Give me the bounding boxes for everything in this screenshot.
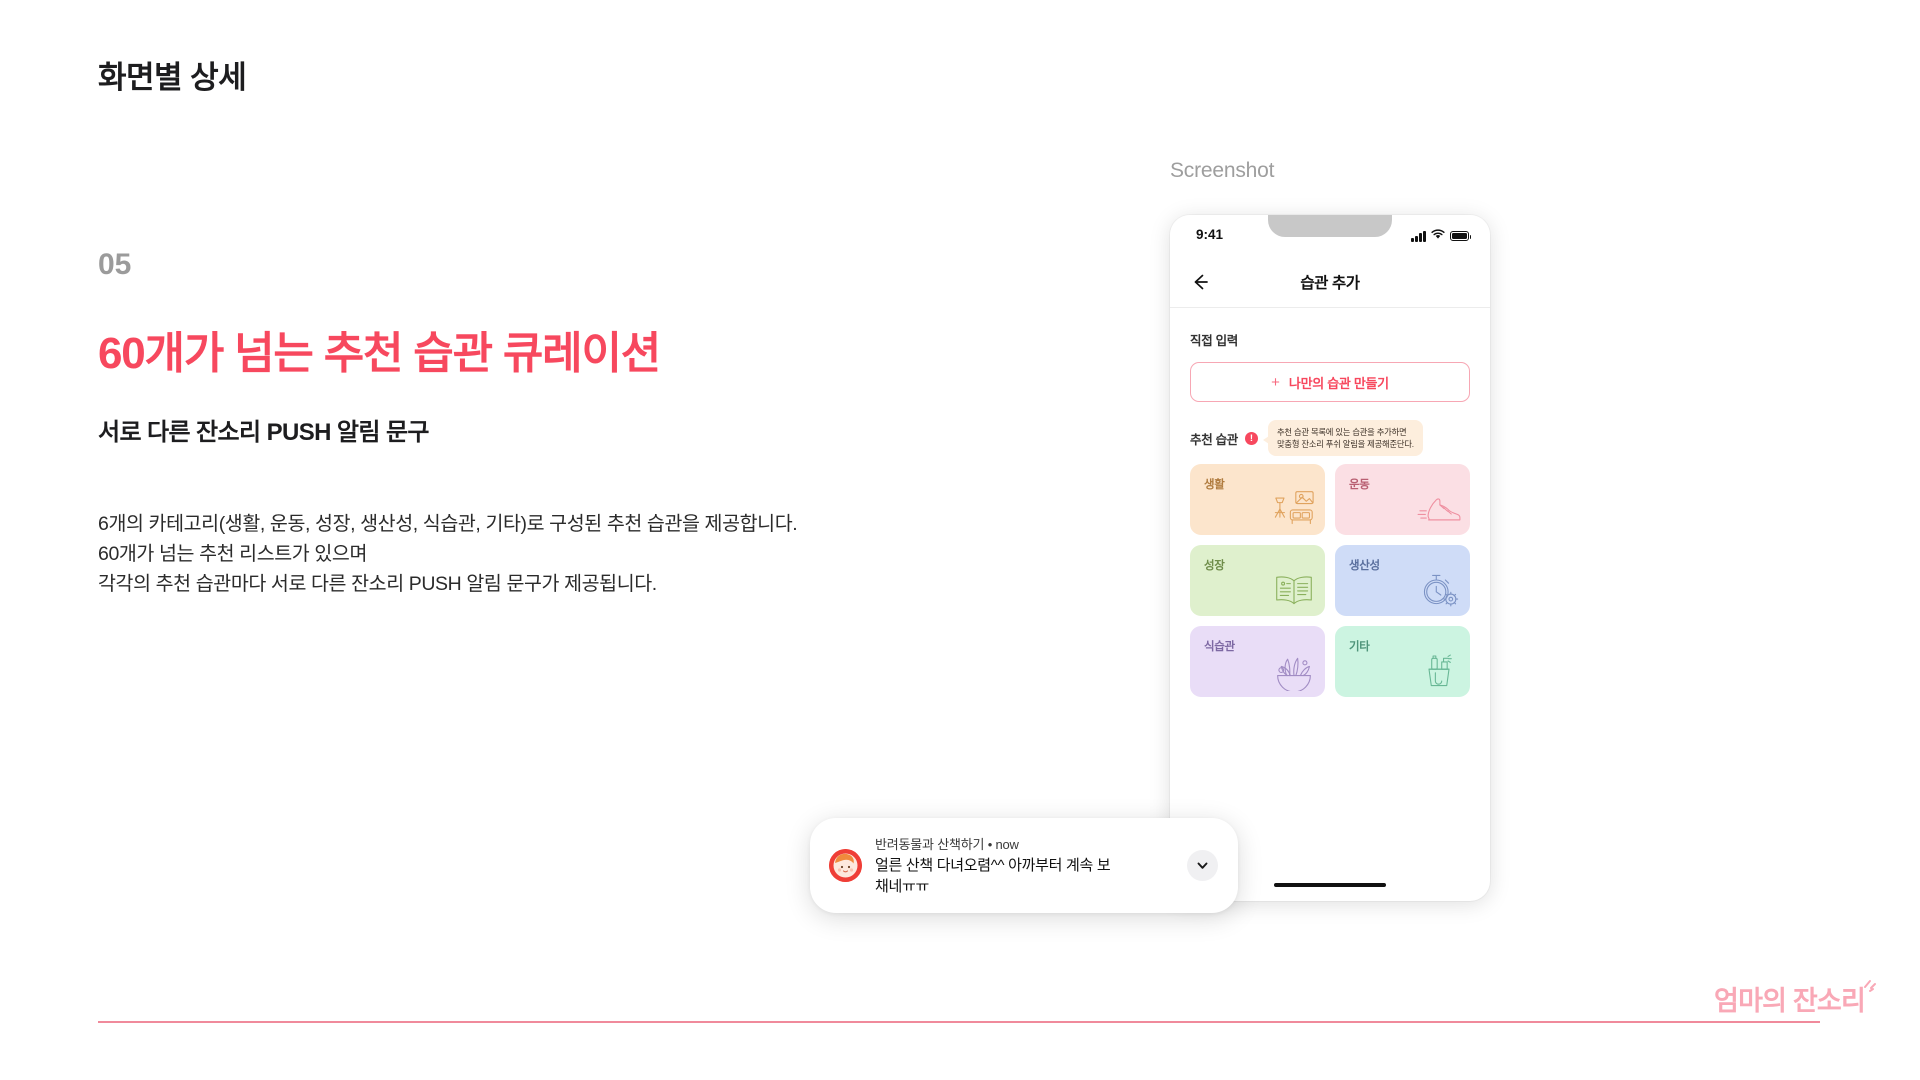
push-notification[interactable]: 반려동물과 산책하기 • now 얼른 산책 다녀오렴^^ 아까부터 계속 보채…	[810, 818, 1238, 913]
brand-logo: 엄마의 잔소리	[1714, 979, 1865, 1018]
screenshot-label: Screenshot	[1170, 159, 1274, 183]
sofa-lamp-icon	[1272, 489, 1316, 529]
direct-input-label: 직접 입력	[1190, 330, 1470, 349]
push-message: 얼른 산책 다녀오렴^^ 아까부터 계속 보채네ㅠㅠ	[875, 856, 1120, 897]
category-card-exercise[interactable]: 운동	[1335, 464, 1470, 535]
recommended-header: 추천 습관 ! 추천 습관 목록에 있는 습관을 추가하면 맞춤형 잔소리 푸쉬…	[1190, 429, 1470, 448]
category-card-living[interactable]: 생활	[1190, 464, 1325, 535]
page-title: 화면별 상세	[98, 52, 246, 97]
push-app-name: 반려동물과 산책하기	[875, 837, 984, 852]
tooltip-line-1: 추천 습관 목록에 있는 습관을 추가하면	[1277, 427, 1406, 437]
plus-icon: +	[1271, 375, 1280, 390]
back-arrow-icon[interactable]	[1189, 271, 1211, 293]
brand-label: 엄마의 잔소리	[1714, 986, 1865, 1016]
body-line-3: 각각의 추천 습관마다 서로 다른 잔소리 PUSH 알림 문구가 제공됩니다.	[98, 569, 998, 599]
category-label: 운동	[1349, 476, 1370, 492]
push-text: 반려동물과 산책하기 • now 얼른 산책 다녀오렴^^ 아까부터 계속 보채…	[875, 834, 1174, 897]
tooltip-line-2: 맞춤형 잔소리 푸쉬 알림을 제공해준단다.	[1277, 439, 1414, 449]
push-meta: 반려동물과 산책하기 • now	[875, 834, 1174, 853]
category-grid: 생활	[1190, 464, 1470, 697]
category-card-etc[interactable]: 기타	[1335, 626, 1470, 697]
create-own-habit-button[interactable]: + 나만의 습관 만들기	[1190, 362, 1470, 402]
body-line-2: 60개가 넘는 추천 리스트가 있으며	[98, 539, 998, 569]
battery-icon	[1450, 231, 1469, 241]
cellular-bars-icon	[1411, 231, 1426, 242]
category-label: 생산성	[1349, 557, 1380, 573]
footer-divider	[98, 1021, 1820, 1023]
body-copy: 6개의 카테고리(생활, 운동, 성장, 생산성, 식습관, 기타)로 구성된 …	[98, 509, 998, 600]
status-icons	[1411, 227, 1469, 245]
sparkle-icon	[1861, 970, 1881, 990]
notch	[1268, 215, 1392, 237]
category-card-diet[interactable]: 식습관	[1190, 626, 1325, 697]
content-column: 05 60개가 넘는 추천 습관 큐레이션 서로 다른 잔소리 PUSH 알림 …	[98, 250, 998, 599]
recommended-label: 추천 습관	[1190, 429, 1238, 448]
push-separator: •	[988, 837, 992, 852]
tooltip: 추천 습관 목록에 있는 습관을 추가하면 맞춤형 잔소리 푸쉬 알림을 제공해…	[1268, 420, 1423, 456]
mom-avatar-icon	[829, 849, 862, 882]
open-book-icon	[1272, 570, 1316, 610]
chevron-down-icon[interactable]	[1187, 850, 1218, 881]
category-card-productivity[interactable]: 생산성	[1335, 545, 1470, 616]
wifi-icon	[1431, 227, 1445, 245]
body-line-1: 6개의 카테고리(생활, 운동, 성장, 생산성, 식습관, 기타)로 구성된 …	[98, 509, 998, 539]
running-shoe-icon	[1417, 489, 1461, 529]
create-own-habit-label: 나만의 습관 만들기	[1289, 373, 1389, 392]
push-time: now	[995, 837, 1018, 852]
category-label: 식습관	[1204, 638, 1235, 654]
step-number: 05	[98, 250, 998, 280]
cleaning-bucket-icon	[1417, 651, 1461, 691]
category-card-growth[interactable]: 성장	[1190, 545, 1325, 616]
status-bar: 9:41	[1170, 215, 1490, 256]
headline: 60개가 넘는 추천 습관 큐레이션	[98, 328, 998, 381]
subheadline: 서로 다른 잔소리 PUSH 알림 문구	[98, 412, 998, 447]
category-label: 성장	[1204, 557, 1225, 573]
info-icon[interactable]: !	[1245, 432, 1258, 445]
category-label: 생활	[1204, 476, 1225, 492]
salad-bowl-icon	[1272, 651, 1316, 691]
status-time: 9:41	[1196, 227, 1223, 242]
phone-body: 직접 입력 + 나만의 습관 만들기 추천 습관 ! 추천 습관 목록에 있는 …	[1170, 308, 1490, 697]
nav-bar: 습관 추가	[1170, 256, 1490, 308]
phone-mockup: 9:41 습관 추가 직접 입력 + 나만의	[1170, 215, 1490, 901]
nav-title: 습관 추가	[1300, 271, 1359, 293]
home-indicator	[1274, 883, 1386, 888]
stopwatch-gear-icon	[1417, 570, 1461, 610]
category-label: 기타	[1349, 638, 1370, 654]
